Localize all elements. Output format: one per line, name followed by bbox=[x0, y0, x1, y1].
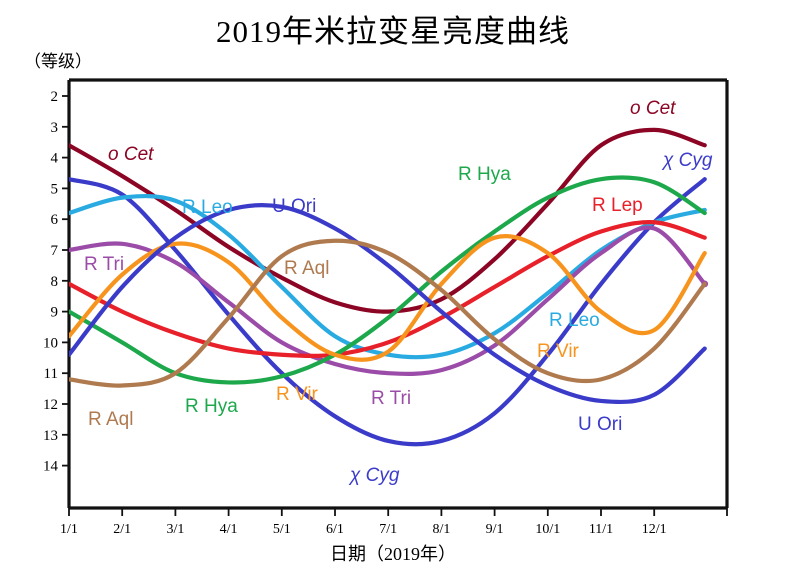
x-axis-tick-label: 8/1 bbox=[432, 522, 450, 537]
y-axis-tick-label: 13 bbox=[43, 428, 58, 444]
x-axis-tick-label: 9/1 bbox=[486, 522, 504, 537]
x-axis-tick-label: 5/1 bbox=[273, 522, 291, 537]
curve-label-r-aql-9: R Aql bbox=[88, 409, 133, 430]
curve-label-r-vir-16: R Vir bbox=[537, 341, 580, 362]
curve-label-r-lep-12: R Lep bbox=[592, 195, 643, 216]
curve-label-r-hya-11: R Hya bbox=[185, 396, 238, 417]
curve-label-r-vir-15: R Vir bbox=[276, 384, 319, 405]
x-axis-tick-label: 10/1 bbox=[535, 522, 560, 537]
curve-label-r-hya-10: R Hya bbox=[458, 164, 511, 185]
curve-label-χ-cyg-13: χ Cyg bbox=[661, 150, 713, 171]
y-axis-tick-label: 6 bbox=[51, 212, 59, 228]
y-axis-tick-label: 4 bbox=[51, 151, 59, 167]
y-axis-tick-label: 3 bbox=[51, 120, 59, 136]
curve-label-χ-cyg-14: χ Cyg bbox=[348, 465, 400, 486]
curve-label-r-leo-2: R Leo bbox=[182, 197, 233, 218]
x-axis-tick-label: 12/1 bbox=[642, 522, 667, 537]
curve-label-r-tri-7: R Tri bbox=[371, 388, 411, 409]
y-axis-tick-label: 8 bbox=[51, 274, 59, 290]
x-axis-tick-label: 2/1 bbox=[113, 522, 131, 537]
x-axis-tick-label: 6/1 bbox=[326, 522, 344, 537]
brightness-curve-chart: 2345678910111213141/12/13/14/15/16/17/18… bbox=[0, 0, 786, 579]
y-axis-tick-label: 5 bbox=[51, 181, 59, 197]
x-axis-tick-label: 11/1 bbox=[589, 522, 613, 537]
curve-label-o-cet-1: o Cet bbox=[630, 98, 676, 119]
x-axis-tick-label: 4/1 bbox=[220, 522, 238, 537]
x-axis-tick-label: 1/1 bbox=[60, 522, 78, 537]
y-axis-tick-label: 12 bbox=[43, 397, 58, 413]
y-axis-tick-label: 9 bbox=[51, 305, 59, 321]
y-axis-tick-label: 14 bbox=[43, 459, 59, 475]
y-axis-tick-label: 7 bbox=[51, 243, 59, 259]
curve-label-r-aql-8: R Aql bbox=[284, 258, 329, 279]
x-axis-tick-label: 3/1 bbox=[166, 522, 184, 537]
y-axis-tick-label: 10 bbox=[43, 335, 58, 351]
curve-label-u-ori-5: U Ori bbox=[578, 414, 622, 435]
curve-labels-group: o Ceto CetR LeoR LeoU OriU OriR TriR Tri… bbox=[84, 98, 713, 486]
curve-o-cet bbox=[69, 130, 705, 312]
y-axis-tick-label: 11 bbox=[44, 366, 58, 382]
curve-label-u-ori-4: U Ori bbox=[272, 196, 316, 217]
curve-label-r-tri-6: R Tri bbox=[84, 254, 124, 275]
curve-label-r-leo-3: R Leo bbox=[549, 310, 600, 331]
x-axis-tick-label: 7/1 bbox=[379, 522, 397, 537]
y-axis-tick-label: 2 bbox=[51, 89, 59, 105]
curve-label-o-cet-0: o Cet bbox=[108, 144, 154, 165]
